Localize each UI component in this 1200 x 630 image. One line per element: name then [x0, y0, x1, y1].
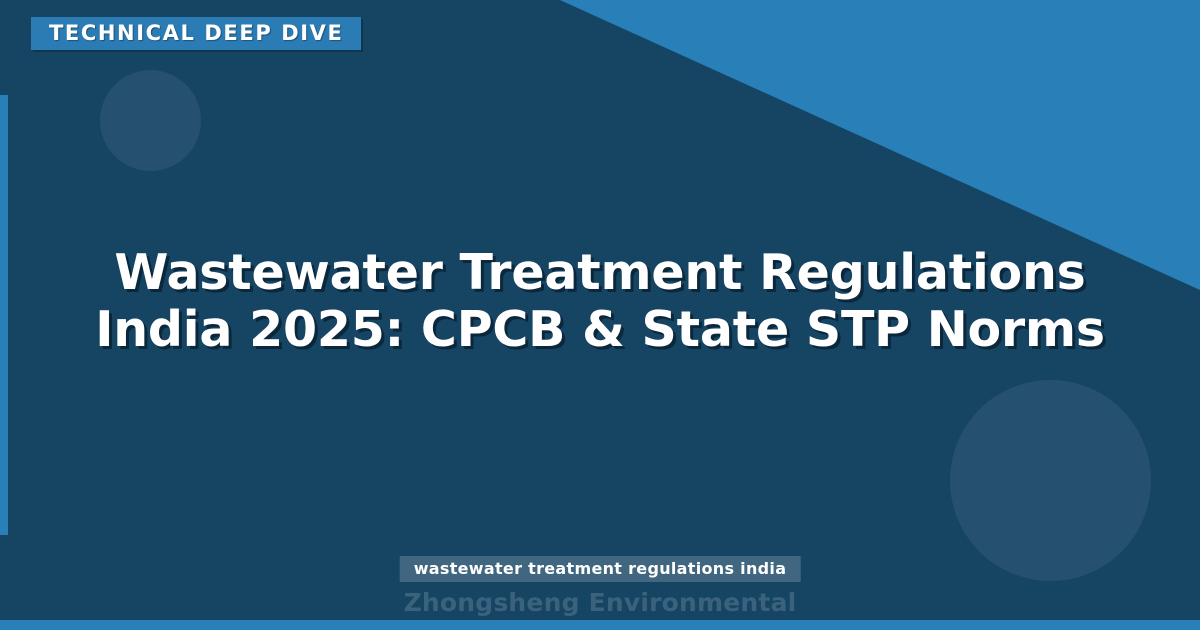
- keyword-tag: wastewater treatment regulations india: [400, 556, 801, 582]
- category-badge: TECHNICAL DEEP DIVE: [31, 17, 361, 50]
- category-badge-label: TECHNICAL DEEP DIVE: [49, 23, 343, 44]
- diagonal-accent-shape: [560, 0, 1200, 290]
- page-title: Wastewater Treatment Regulations India 2…: [80, 244, 1120, 387]
- footer-brand-name: Zhongsheng Environmental: [150, 589, 1050, 617]
- social-share-card: TECHNICAL DEEP DIVE Wastewater Treatment…: [0, 0, 1200, 630]
- decor-circle-top-left: [100, 70, 201, 171]
- decor-circle-bottom-right: [950, 380, 1151, 581]
- left-accent-bar: [0, 95, 8, 535]
- keyword-tag-label: wastewater treatment regulations india: [414, 561, 787, 577]
- bottom-accent-bar: [0, 620, 1200, 630]
